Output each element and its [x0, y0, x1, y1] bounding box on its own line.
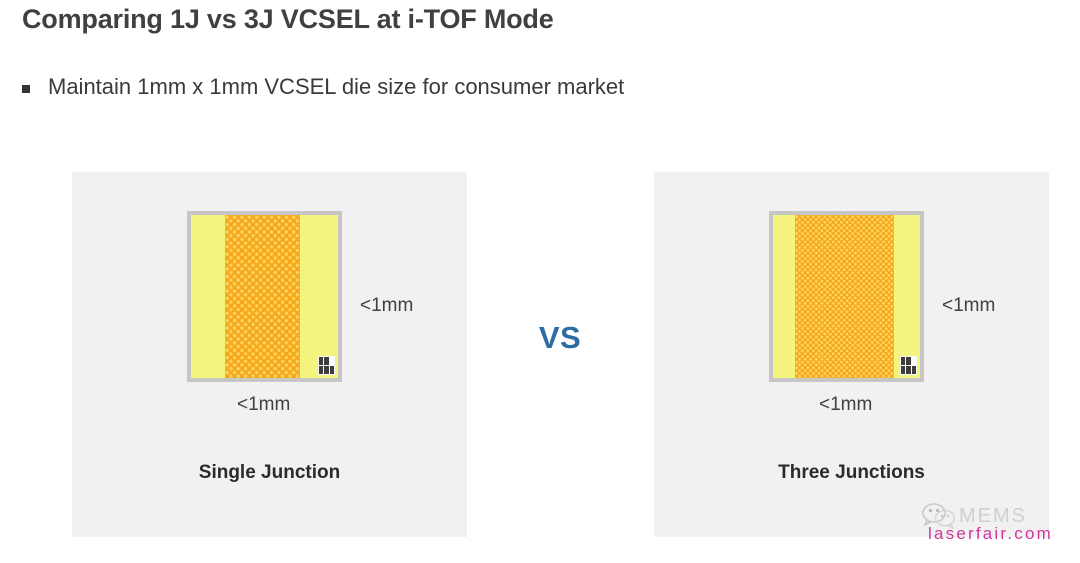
die-surface [773, 215, 920, 378]
die-package [187, 211, 342, 382]
comparison-panel-single-junction: <1mm <1mm Single Junction [72, 172, 467, 537]
bullet-item-text: Maintain 1mm x 1mm VCSEL die size for co… [48, 74, 624, 100]
die-diagram-three-junctions [769, 211, 924, 382]
emitter-aperture-array [795, 215, 894, 378]
dimension-label-height: <1mm [360, 295, 413, 317]
comparison-panel-three-junctions: <1mm <1mm Three Junctions [654, 172, 1049, 537]
versus-separator: VS [505, 320, 615, 356]
bullet-item: Maintain 1mm x 1mm VCSEL die size for co… [22, 74, 624, 100]
dimension-label-height: <1mm [942, 295, 995, 317]
square-bullet-icon [22, 85, 30, 93]
die-surface [191, 215, 338, 378]
emitter-aperture-array [225, 215, 300, 378]
bond-pad-right [894, 215, 920, 378]
panel-caption-single-junction: Single Junction [72, 462, 467, 484]
bond-pad-left [191, 215, 225, 378]
bond-pad-left [773, 215, 795, 378]
bond-pad-right [300, 215, 338, 378]
die-id-mark-icon [900, 356, 917, 375]
watermark-brand-text: MEMS [959, 506, 1027, 526]
dimension-label-width: <1mm [819, 394, 872, 416]
die-diagram-single-junction [187, 211, 342, 382]
dimension-label-width: <1mm [237, 394, 290, 416]
watermark: MEMS laserfair.com [922, 503, 1074, 559]
page-title: Comparing 1J vs 3J VCSEL at i-TOF Mode [22, 4, 554, 35]
watermark-url-text: laserfair.com [928, 525, 1053, 542]
panel-caption-three-junctions: Three Junctions [654, 462, 1049, 484]
die-package [769, 211, 924, 382]
die-id-mark-icon [318, 356, 335, 375]
